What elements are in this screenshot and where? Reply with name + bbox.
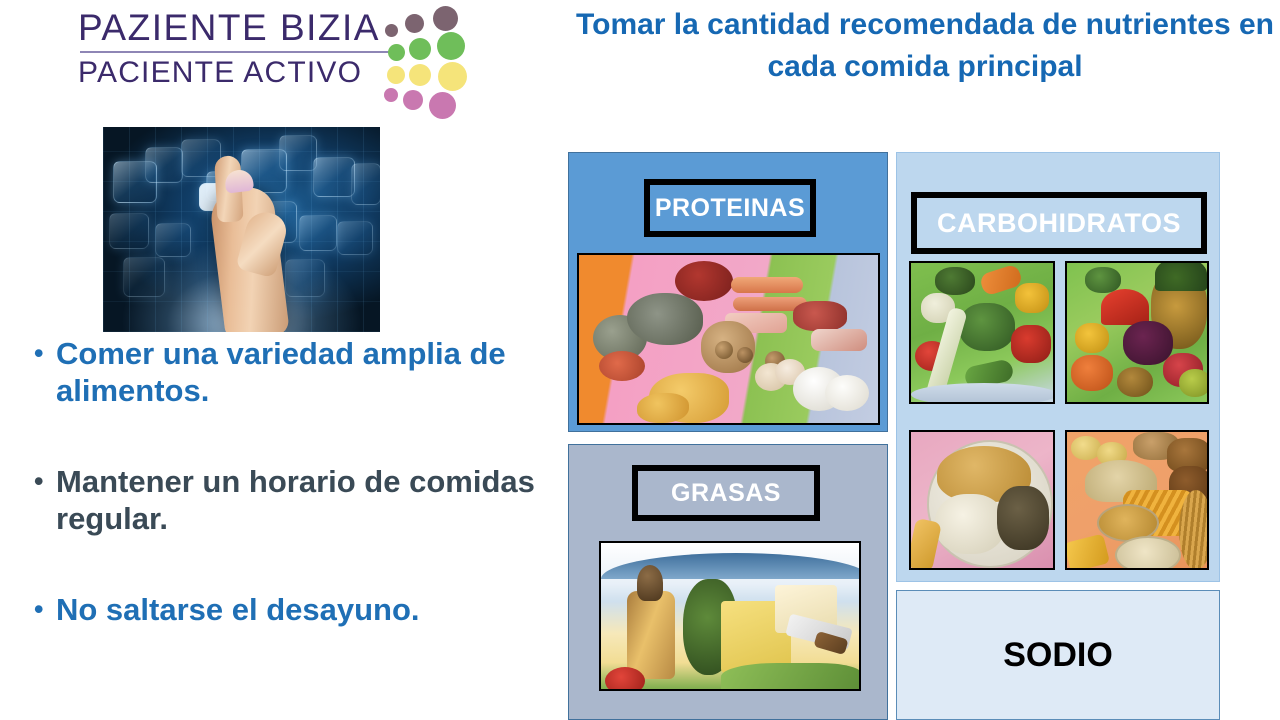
bullet-text: No saltarse el desayuno.: [56, 591, 420, 628]
bullet-list: • Comer una variedad amplia de alimentos…: [34, 335, 539, 628]
logo-dot: [437, 32, 465, 60]
bullet-text: Comer una variedad amplia de alimentos.: [56, 335, 539, 409]
bullet-text: Mantener un horario de comidas regular.: [56, 463, 539, 537]
logo-dot: [387, 66, 405, 84]
label-grasas: GRASAS: [632, 465, 820, 521]
logo-dot: [385, 24, 398, 37]
logo-dot: [433, 6, 458, 31]
bullet-marker-icon: •: [34, 591, 56, 628]
list-item: • Comer una variedad amplia de alimentos…: [34, 335, 539, 409]
bullet-marker-icon: •: [34, 463, 56, 500]
logo-dot: [405, 14, 424, 33]
photo-proteins-plate: [577, 253, 880, 425]
panel-sodio: SODIO: [896, 590, 1220, 720]
logo-dot: [409, 64, 431, 86]
logo-divider: [80, 51, 392, 53]
logo-dot: [438, 62, 467, 91]
logo-dot: [384, 88, 398, 102]
page-title: Tomar la cantidad recomendada de nutrien…: [575, 4, 1275, 88]
photo-olive-oil-cheese: [599, 541, 861, 691]
logo-line-2: PACIENTE ACTIVO: [78, 55, 398, 91]
logo-line-1: PAZIENTE BIZIA: [78, 6, 398, 50]
photo-vegetables: [909, 261, 1055, 404]
photo-legumes: [909, 430, 1055, 570]
slide-root: PAZIENTE BIZIA PACIENTE ACTIVO: [0, 0, 1280, 720]
photo-grains: [1065, 430, 1209, 570]
logo-dots-graphic: [383, 6, 488, 114]
label-carbohidratos: CARBOHIDRATOS: [911, 192, 1207, 254]
tech-touchscreen-hand-image: [103, 127, 380, 332]
panel-proteinas: PROTEINAS: [568, 152, 888, 432]
panel-carbohidratos: CARBOHIDRATOS: [896, 152, 1220, 582]
list-item: • Mantener un horario de comidas regular…: [34, 463, 539, 537]
logo-dot: [409, 38, 431, 60]
label-sodio: SODIO: [897, 591, 1219, 719]
photo-fruits: [1065, 261, 1209, 404]
logo-dot: [403, 90, 423, 110]
logo-dot: [429, 92, 456, 119]
logo-wordmark: PAZIENTE BIZIA PACIENTE ACTIVO: [78, 6, 398, 91]
list-item: • No saltarse el desayuno.: [34, 591, 539, 628]
bullet-marker-icon: •: [34, 335, 56, 372]
label-proteinas: PROTEINAS: [644, 179, 816, 237]
brand-logo: PAZIENTE BIZIA PACIENTE ACTIVO: [78, 6, 488, 111]
panel-grasas: GRASAS: [568, 444, 888, 720]
logo-dot: [388, 44, 405, 61]
